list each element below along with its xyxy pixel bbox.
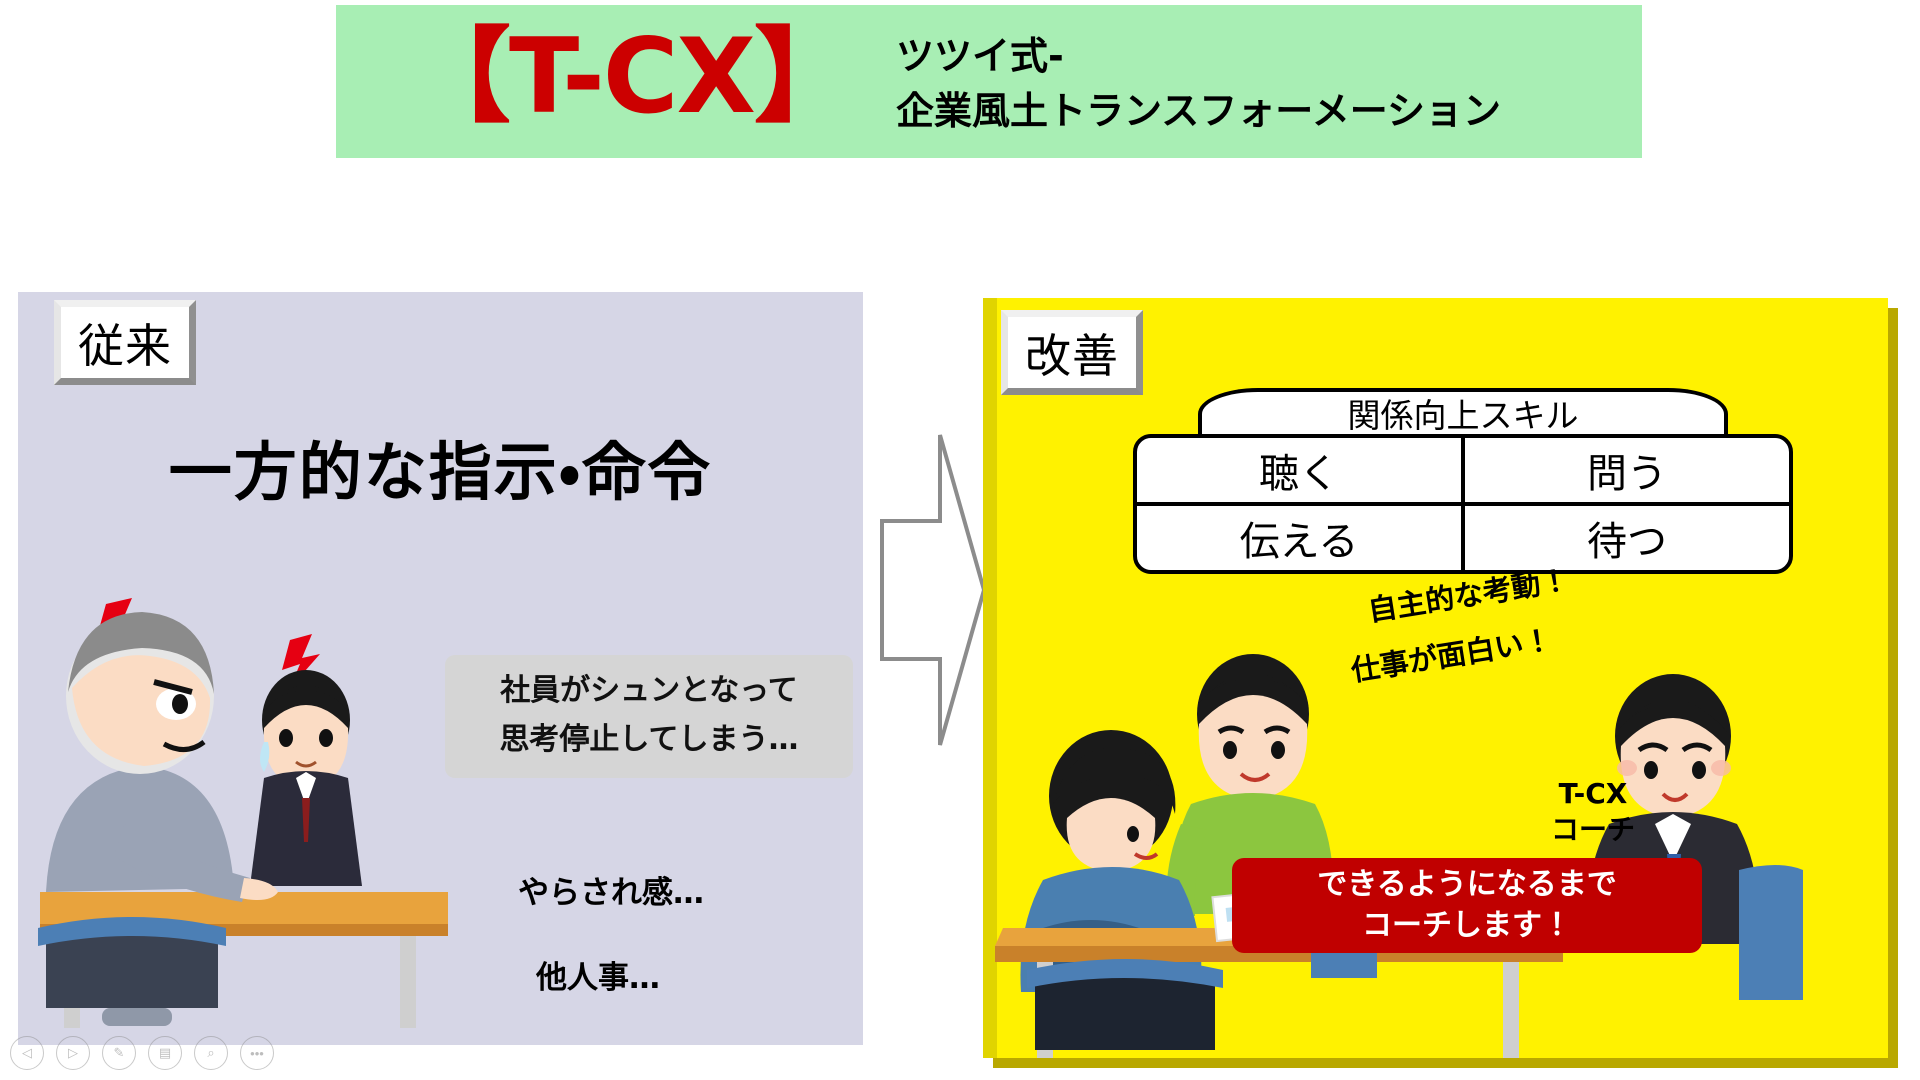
skills-table-row: 聴く 問う bbox=[1137, 438, 1789, 506]
skills-table-row: 伝える 待つ bbox=[1137, 506, 1789, 570]
coach-label-line2: コーチ bbox=[1551, 812, 1635, 848]
next-slide-button[interactable]: ▷ bbox=[56, 1036, 90, 1070]
previous-slide-button[interactable]: ◁ bbox=[10, 1036, 44, 1070]
pen-tool-button[interactable]: ✎ bbox=[102, 1036, 136, 1070]
slide-grid-button[interactable]: ▤ bbox=[148, 1036, 182, 1070]
banner-subtitle-line1: ツツイ式- bbox=[896, 29, 1501, 84]
before-note-2: 他人事… bbox=[536, 952, 660, 997]
before-note-1: やらされ感… bbox=[518, 867, 704, 912]
skills-table-header: 関係向上スキル bbox=[1198, 388, 1728, 434]
slide-canvas: 【T-CX】 ツツイ式- 企業風土トランスフォーメーション 従来 一方的な指示・… bbox=[0, 0, 1920, 1080]
more-options-button[interactable]: ••• bbox=[240, 1036, 274, 1070]
after-panel: 改善 関係向上スキル 聴く 問う 伝える 待つ bbox=[983, 298, 1888, 1058]
coach-label-line1: T-CX bbox=[1551, 776, 1635, 812]
zoom-button[interactable]: ⌕ bbox=[194, 1036, 228, 1070]
skill-cell-wait: 待つ bbox=[1461, 506, 1789, 570]
banner-title: 【T-CX】 bbox=[408, 13, 855, 142]
skill-cell-convey: 伝える bbox=[1137, 506, 1461, 570]
before-callout: 社員がシュンとなって 思考停止してしまう… bbox=[445, 655, 853, 778]
skill-cell-ask: 問う bbox=[1461, 438, 1789, 506]
coach-label: T-CX コーチ bbox=[1551, 776, 1635, 848]
transition-arrow bbox=[878, 425, 988, 755]
skills-table-grid: 聴く 問う 伝える 待つ bbox=[1133, 434, 1793, 574]
banner-subtitle: ツツイ式- 企業風土トランスフォーメーション bbox=[896, 29, 1501, 139]
before-callout-line1: 社員がシュンとなって bbox=[459, 667, 839, 716]
skills-table: 関係向上スキル 聴く 問う 伝える 待つ bbox=[1133, 388, 1793, 574]
coaching-promise-line1: できるようになるまで bbox=[1317, 865, 1616, 905]
before-panel: 従来 一方的な指示・命令 bbox=[18, 292, 863, 1045]
angry-boss-illustration bbox=[28, 592, 458, 1032]
title-banner: 【T-CX】 ツツイ式- 企業風土トランスフォーメーション bbox=[336, 5, 1642, 158]
before-panel-tab: 従来 bbox=[54, 300, 196, 385]
coaching-promise-line2: コーチします！ bbox=[1362, 906, 1572, 946]
skill-cell-listen: 聴く bbox=[1137, 438, 1461, 506]
meeting-illustration bbox=[983, 628, 1888, 1058]
coaching-promise-box: できるようになるまで コーチします！ bbox=[1232, 858, 1702, 953]
banner-subtitle-line2: 企業風土トランスフォーメーション bbox=[896, 84, 1501, 139]
presentation-toolbar: ◁ ▷ ✎ ▤ ⌕ ••• bbox=[10, 1036, 274, 1070]
before-heading: 一方的な指示・命令 bbox=[18, 422, 863, 513]
before-callout-line2: 思考停止してしまう… bbox=[459, 716, 839, 765]
after-panel-tab: 改善 bbox=[1001, 310, 1143, 395]
